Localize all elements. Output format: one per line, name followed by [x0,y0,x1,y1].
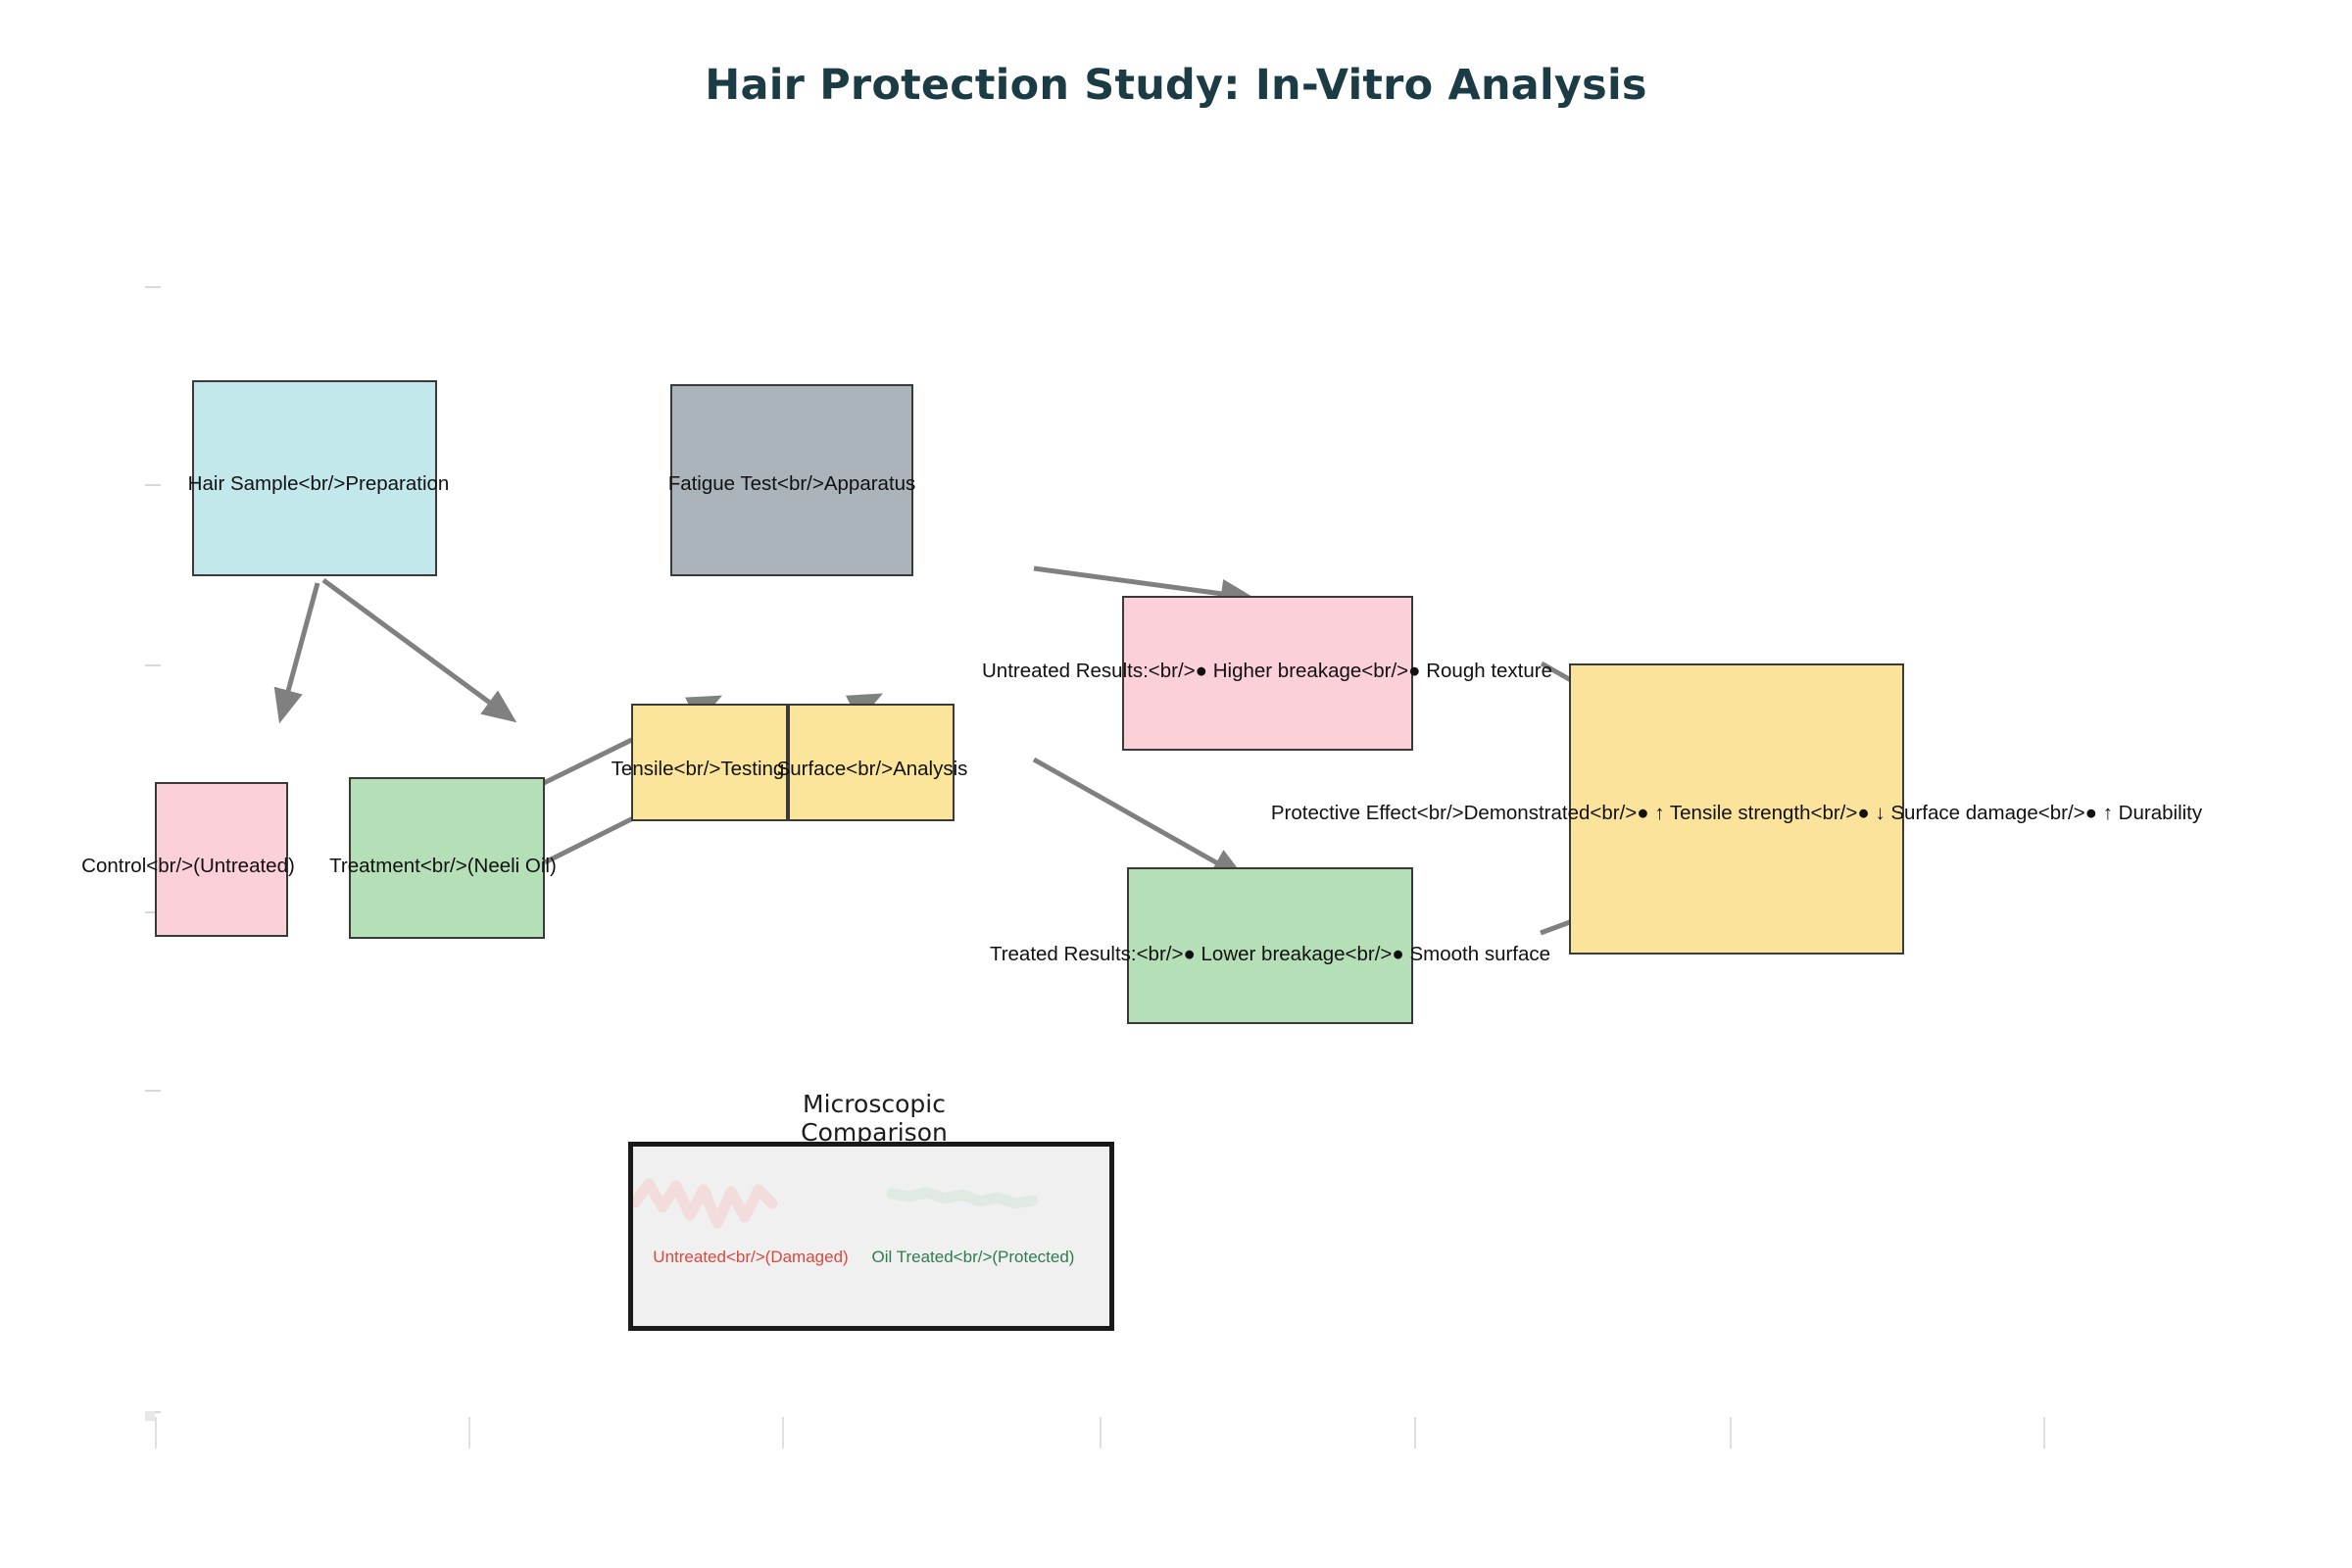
arrow-prep-to-treatment [323,580,502,711]
node-untreated-results[interactable] [1122,596,1413,751]
micrograph-label-treated: Oil Treated<br/>(Protected) [872,1248,1075,1267]
arrow-surface-to-treated [1034,759,1230,870]
node-protective-effect[interactable] [1569,663,1904,955]
micrograph-panel: Untreated<br/>(Damaged) Oil Treated<br/>… [628,1142,1114,1331]
damaged-hair-trace [635,1184,772,1223]
arrow-fatigue-to-untreated [1034,568,1237,596]
diagram-canvas: Hair Protection Study: In-Vitro Analysis… [0,0,2352,1568]
micrograph-label-untreated: Untreated<br/>(Damaged) [653,1248,848,1267]
node-tensile-testing[interactable] [631,704,788,821]
micrograph-section-title: Microscopic Comparison [727,1090,1021,1147]
protected-hair-trace [892,1193,1033,1203]
micrograph-traces [633,1147,1109,1326]
node-hair-sample-preparation[interactable] [192,380,437,576]
node-surface-analysis[interactable] [788,704,955,821]
arrow-prep-to-control [284,583,318,706]
node-fatigue-test-apparatus[interactable] [670,384,913,576]
node-treated-results[interactable] [1127,867,1413,1024]
node-control-untreated[interactable] [155,782,288,937]
node-treatment-neeli-oil[interactable] [349,777,545,939]
